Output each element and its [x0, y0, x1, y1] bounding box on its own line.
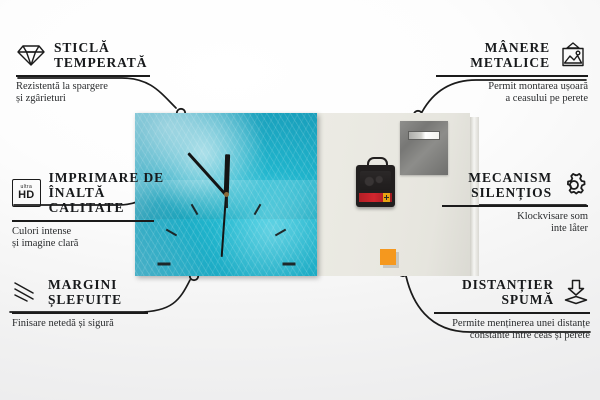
feature-head: ultra HD IMPRIMARE DE ÎNALTĂ CALITATE — [12, 170, 170, 215]
foam-spacer-icon — [562, 279, 590, 305]
hd-text: HD — [18, 190, 35, 201]
feature-foam-spacer: DISTANȚIER SPUMĂ Permite menținerea unei… — [428, 277, 590, 343]
feature-rule — [16, 75, 150, 77]
hanger-slot — [408, 131, 440, 140]
ultra-hd-icon: ultra HD — [12, 179, 41, 207]
feature-head: STICLĂ TEMPERATĂ — [16, 40, 166, 70]
feature-rule — [12, 312, 148, 314]
clock-tick — [282, 262, 295, 265]
feature-subtitle: Klockvisare som inte låter — [436, 211, 588, 236]
feature-head: MÂNERE METALICE — [430, 40, 588, 70]
picture-hanger-icon — [558, 42, 588, 68]
clock-tick — [157, 262, 170, 265]
battery-label — [359, 193, 392, 202]
feature-head: MECANISM SILENȚIOS — [436, 170, 588, 200]
feature-subtitle: Permite menținerea unei distanțe constan… — [428, 318, 590, 343]
feature-title: MÂNERE METALICE — [470, 40, 550, 70]
feature-head: DISTANȚIER SPUMĂ — [428, 277, 590, 307]
feature-subtitle: Permit montarea ușoară a ceasului pe per… — [430, 81, 588, 106]
battery-plus-icon — [383, 193, 390, 202]
feature-title: STICLĂ TEMPERATĂ — [54, 40, 147, 70]
diamond-icon — [16, 43, 46, 67]
feature-rule — [434, 312, 590, 314]
feature-subtitle: Rezistentă la spargere și zgârieturi — [16, 81, 166, 106]
metal-hanger-plate — [400, 121, 448, 175]
feature-title: MECANISM SILENȚIOS — [468, 170, 552, 200]
feature-subtitle: Culori intense și imagine clară — [12, 226, 170, 251]
gear-icon — [560, 172, 588, 198]
feature-subtitle: Finisare netedă și sigură — [12, 318, 164, 331]
clock-center-pin — [224, 192, 229, 197]
feature-title: IMPRIMARE DE ÎNALTĂ CALITATE — [49, 170, 170, 215]
polished-edges-icon — [12, 280, 40, 304]
feature-silent-mechanism: MECANISM SILENȚIOS Klockvisare som inte … — [436, 170, 588, 236]
movement-body — [360, 171, 391, 190]
infographic-canvas: STICLĂ TEMPERATĂ Rezistentă la spargere … — [0, 0, 600, 400]
feature-title: DISTANȚIER SPUMĂ — [462, 277, 554, 307]
feature-rule — [436, 75, 588, 77]
feature-metal-handles: MÂNERE METALICE Permit montarea ușoară a… — [430, 40, 588, 106]
feature-rule — [12, 220, 154, 222]
feature-title: MARGINI ȘLEFUITE — [48, 277, 122, 307]
foam-spacer-block — [380, 249, 396, 265]
feature-tempered-glass: STICLĂ TEMPERATĂ Rezistentă la spargere … — [16, 40, 166, 106]
feature-rule — [442, 205, 588, 207]
feature-polished-edges: MARGINI ȘLEFUITE Finisare netedă și sigu… — [12, 277, 164, 330]
feature-head: MARGINI ȘLEFUITE — [12, 277, 164, 307]
feature-hd-print: ultra HD IMPRIMARE DE ÎNALTĂ CALITATE Cu… — [12, 170, 170, 251]
quartz-movement — [356, 165, 395, 207]
product-photo — [135, 113, 470, 276]
movement-hanger-loop — [367, 157, 388, 170]
